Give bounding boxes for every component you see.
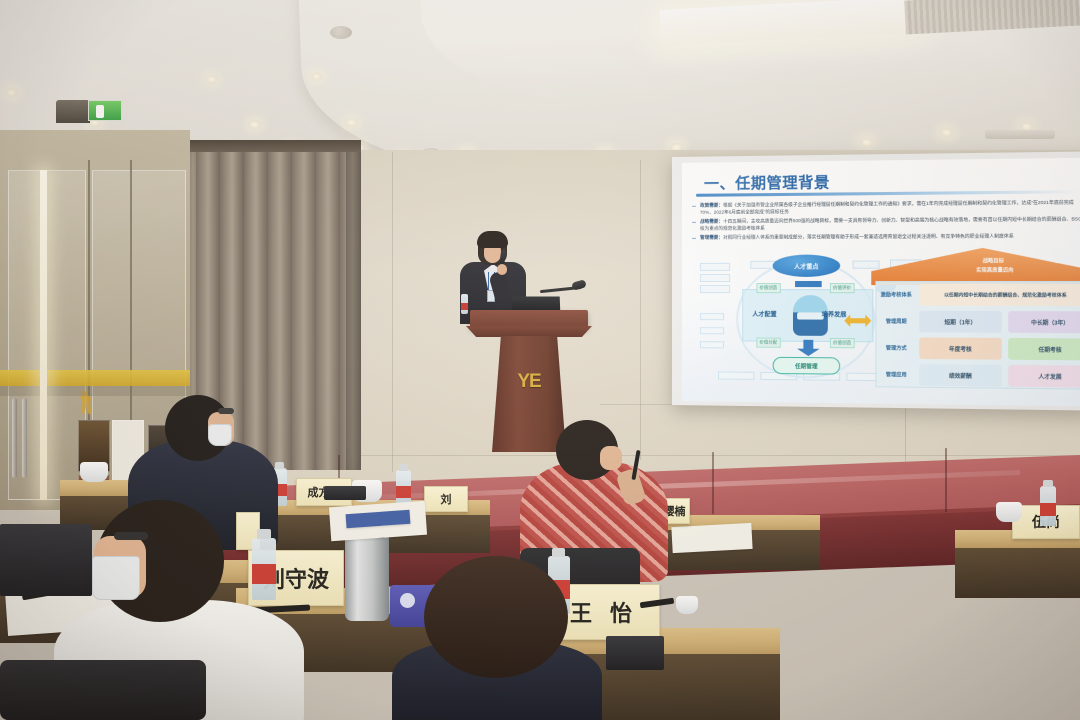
bullet-dash (692, 206, 696, 207)
attendee-laptop (606, 636, 664, 670)
table-cell: 中长期（3年） (1008, 311, 1080, 333)
slide-table: 激励考核体系 以任期内短中长期结合的薪酬组合、规范化激励考核体系 管理周期 短期… (875, 281, 1080, 390)
door-handle[interactable] (12, 398, 17, 478)
diagram-top-node: 人才重点 (773, 255, 841, 277)
slide-bullet-1: 政策需要：根据《关于加强市管企业所属各级子企业推行经理层任期制和契约化管理工作的… (700, 198, 1080, 216)
table-row: 激励考核体系 以任期内短中长期结合的薪酬组合、规范化激励考核体系 (876, 282, 1080, 308)
diagram-footer-card (718, 371, 754, 379)
attendee-table-side (955, 548, 1080, 598)
table-row: 管理方式 年度考核 任期考核 (876, 335, 1080, 362)
speaker-hair (477, 231, 508, 248)
downlight-icon (248, 120, 261, 129)
teacup (80, 462, 108, 482)
table-cell: 任期考核 (1008, 338, 1080, 360)
diagram-bottom-node: 任期管理 (773, 357, 841, 375)
ceiling-vent (985, 130, 1055, 139)
table-row-label: 管理周期 (876, 309, 916, 335)
roof-text-line1: 战略目标 (983, 257, 1004, 264)
table-cell: 绩效薪酬 (919, 364, 1002, 386)
diagram-side-card (700, 313, 724, 320)
diagram-tag: 价值创造 (756, 283, 780, 293)
attendee-head (424, 556, 568, 678)
attendee-face (600, 446, 622, 470)
downlight-icon (860, 138, 873, 147)
podium-body (492, 336, 566, 452)
teacup (996, 502, 1022, 522)
bullet-dash (692, 222, 696, 223)
ceiling-speaker-icon (330, 26, 352, 39)
glass-band (0, 370, 190, 386)
diagram-side-card (700, 341, 724, 348)
conference-room-scene: 一、任期管理背景 政策需要：根据《关于加强市管企业所属各级子企业推行经理层任期制… (0, 0, 1080, 720)
table-row-label: 激励考核体系 (876, 282, 916, 308)
curtain-rail (183, 140, 361, 152)
bottle-cap (1043, 480, 1053, 487)
bullet-3-key: 管理需要： (700, 235, 723, 240)
bottle-cap (552, 548, 565, 557)
vertical-light-strip (40, 170, 47, 500)
podium-top (470, 310, 588, 328)
table-cell: 年度考核 (919, 337, 1002, 359)
diagram-side-card (700, 263, 730, 271)
diagram-side-card (700, 274, 730, 282)
water-bottle (252, 538, 276, 600)
bullet-3-text: 对照同行业经理人体系的重要制成部分，落实任期管理有助于形成一套兼适选用育留退全过… (723, 233, 1014, 239)
bottle-cap (399, 464, 408, 471)
presentation-slide: 一、任期管理背景 政策需要：根据《关于加强市管企业所属各级子企业推行经理层任期制… (682, 158, 1080, 407)
downlight-icon (5, 88, 18, 97)
chair (0, 660, 206, 720)
slide-bullet-2: 战略需要：十四五期间，主攻高质量迈向世界500强的战略目标，需要一支具有领导力、… (700, 215, 1080, 232)
face-mask-icon (92, 556, 140, 600)
diagram-tag: 价值评价 (830, 283, 854, 293)
slide-bullet-3: 管理需要：对照同行业经理人体系的重要制成部分，落实任期管理有助于形成一套兼适选用… (700, 232, 1080, 241)
eyeglasses-icon (114, 532, 148, 540)
bottle-cap (257, 529, 271, 539)
bullet-1-key: 政策需要： (700, 203, 723, 208)
glass-pane (8, 170, 86, 500)
face-mask-icon (208, 424, 232, 446)
podium-logo: YE (512, 370, 546, 394)
diagram-tag: 价值分配 (756, 338, 780, 348)
glass-band-lower (0, 386, 190, 396)
exit-sign-icon (88, 100, 122, 121)
thermos-flask (345, 533, 389, 621)
table-row-label: 管理方式 (876, 335, 916, 361)
bullet-dash (692, 238, 696, 239)
table-cell: 人才发展 (1008, 365, 1080, 388)
table-row: 管理应用 绩效薪酬 人才发展 (876, 362, 1080, 390)
diagram-left-label: 人才配置 (752, 309, 776, 318)
podium-lip (466, 326, 592, 337)
wall-seam (640, 160, 641, 460)
table-cell: 短期（1年） (919, 311, 1002, 333)
podium-water-bottle (461, 294, 468, 314)
eyeglasses-icon (218, 408, 234, 414)
diagram-side-card (700, 327, 724, 334)
stage-seam (945, 448, 947, 512)
exit-sign-housing (56, 100, 90, 123)
roof-text-line2: 实现高质量迈向 (976, 266, 1013, 273)
projection-screen[interactable]: 一、任期管理背景 政策需要：根据《关于加强市管企业所属各级子企业推行经理层任期制… (672, 151, 1080, 410)
bottle-cap (275, 462, 284, 469)
diagram-right-label: 培养发展 (822, 309, 847, 318)
diagram-top-bar (795, 281, 822, 287)
downlight-icon (205, 75, 218, 84)
teacup (676, 596, 698, 614)
downlight-icon (310, 72, 323, 81)
attendee-laptop (0, 524, 92, 596)
attendee-paper (671, 523, 752, 553)
bullet-2-text: 十四五期间，主攻高质量迈向世界500强的战略目标，需要一支具有领导力、创新力、智… (700, 216, 1080, 231)
diagram-side-card (853, 261, 880, 269)
speaker-hand (497, 264, 507, 275)
table-cell: 以任期内短中长期结合的薪酬组合、规范化激励考核体系 (919, 284, 1080, 306)
water-bottle (1040, 486, 1056, 526)
stage-seam (712, 452, 714, 514)
door-handle[interactable] (22, 398, 27, 478)
table-row: 管理周期 短期（1年） 中长期（3年） (876, 309, 1080, 336)
table-row-label: 管理应用 (876, 362, 916, 388)
diagram-tag: 价值创造 (830, 338, 854, 348)
wall-seam (392, 152, 393, 472)
slide-title: 一、任期管理背景 (704, 171, 830, 194)
downlight-icon (940, 128, 953, 137)
diagram-side-card (700, 285, 730, 293)
nameplate: 刘 (424, 486, 468, 512)
bullet-2-key: 战略需要： (700, 219, 723, 224)
attendee-laptop (324, 486, 366, 500)
downlight-icon (345, 118, 358, 127)
bullet-1-text: 根据《关于加强市管企业所属各级子企业推行经理层任期制和契约化管理工作的通知》要求… (700, 200, 1074, 215)
